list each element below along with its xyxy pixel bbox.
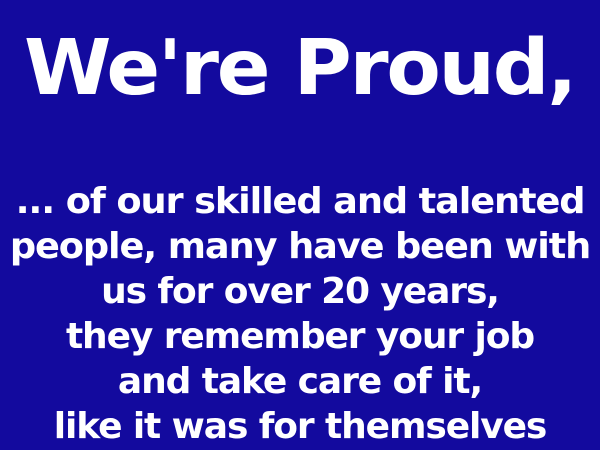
promotional-poster: We're Proud, ... of our skilled and tale…: [0, 0, 600, 450]
body-line: and take care of it,: [0, 359, 600, 404]
body-line: us for over 20 years,: [0, 269, 600, 314]
body-line: people, many have been with: [0, 224, 600, 269]
poster-body-text: ... of our skilled and talented people, …: [0, 179, 600, 449]
body-line: like it was for themselves: [0, 404, 600, 449]
body-line: they remember your job: [0, 314, 600, 359]
poster-headline: We're Proud,: [24, 30, 575, 107]
body-line: ... of our skilled and talented: [0, 179, 600, 224]
